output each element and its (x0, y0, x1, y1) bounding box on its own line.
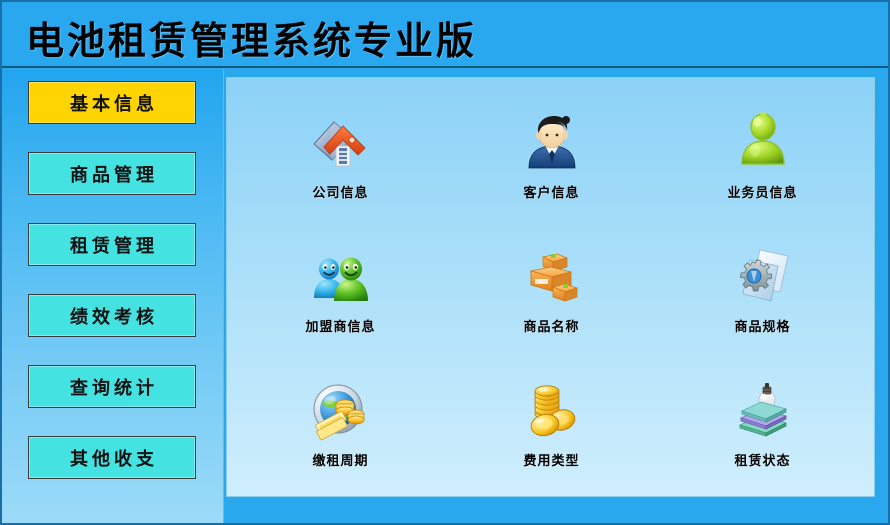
application-window: 电池租赁管理系统专业版 基本信息 商品管理 租赁管理 绩效考核 查询统计 其他收… (0, 0, 890, 525)
grid-item-label: 商品名称 (523, 316, 579, 335)
grid-item-salesperson-info[interactable]: 业务员信息 (657, 88, 868, 222)
sidebar-item-other-income-expense[interactable]: 其他收支 (28, 436, 196, 479)
grid-item-rental-status[interactable]: 租赁状态 (657, 356, 868, 490)
grid-item-label: 租赁状态 (734, 450, 790, 469)
grid-item-label: 缴租周期 (312, 450, 368, 469)
grid-item-label: 公司信息 (312, 182, 368, 201)
green-person-icon (730, 110, 796, 176)
two-buddies-icon (308, 244, 374, 310)
grid-item-franchisee-info[interactable]: 加盟商信息 (235, 222, 446, 356)
sidebar-item-label: 绩效考核 (66, 303, 158, 329)
sidebar-item-performance-review[interactable]: 绩效考核 (28, 294, 196, 337)
grid-item-product-name[interactable]: 商品名称 (446, 222, 657, 356)
gear-document-icon (730, 244, 796, 310)
grid-item-company-info[interactable]: 公司信息 (235, 88, 446, 222)
sidebar-item-label: 基本信息 (66, 90, 158, 116)
sidebar-item-label: 查询统计 (66, 374, 158, 400)
page-title: 电池租赁管理系统专业版 (26, 10, 477, 65)
boxes-icon (519, 244, 585, 310)
sidebar-item-label: 租赁管理 (66, 232, 158, 258)
gold-coins-icon (519, 378, 585, 444)
main-content-panel: 公司信息 (226, 77, 875, 497)
books-bulb-icon (730, 378, 796, 444)
sidebar: 基本信息 商品管理 租赁管理 绩效考核 查询统计 其他收支 (2, 70, 224, 523)
sidebar-item-label: 商品管理 (66, 161, 158, 187)
grid-item-customer-info[interactable]: 客户信息 (446, 88, 657, 222)
sidebar-item-query-statistics[interactable]: 查询统计 (28, 365, 196, 408)
grid-item-fee-type[interactable]: 费用类型 (446, 356, 657, 490)
grid-item-label: 业务员信息 (727, 182, 797, 201)
title-bar: 电池租赁管理系统专业版 (2, 2, 888, 68)
grid-item-label: 费用类型 (523, 450, 579, 469)
sidebar-item-label: 其他收支 (66, 445, 158, 471)
icon-grid: 公司信息 (227, 78, 876, 498)
grid-item-rent-cycle[interactable]: 缴租周期 (235, 356, 446, 490)
sidebar-item-basic-info[interactable]: 基本信息 (28, 81, 196, 124)
sidebar-item-product-management[interactable]: 商品管理 (28, 152, 196, 195)
globe-money-icon (308, 378, 374, 444)
grid-item-label: 加盟商信息 (305, 316, 375, 335)
grid-item-label: 客户信息 (523, 182, 579, 201)
grid-item-label: 商品规格 (734, 316, 790, 335)
businessman-icon (519, 110, 585, 176)
sidebar-item-rental-management[interactable]: 租赁管理 (28, 223, 196, 266)
grid-item-product-spec[interactable]: 商品规格 (657, 222, 868, 356)
house-icon (308, 110, 374, 176)
